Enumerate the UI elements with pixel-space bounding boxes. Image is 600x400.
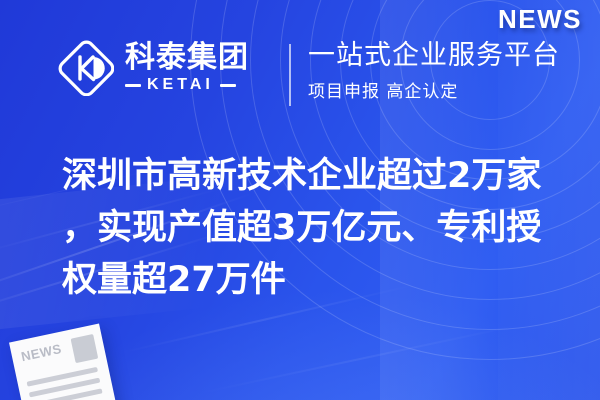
news-badge: NEWS [498, 4, 582, 35]
brand-name-cn: 科泰集团 [125, 42, 249, 74]
tagline-main: 一站式企业服务平台 [308, 40, 560, 72]
dash-right-icon [220, 84, 236, 87]
brand-logo-text: 科泰集团 KETAI [125, 42, 249, 95]
dash-left-icon [125, 84, 141, 87]
light-streak [200, 323, 523, 394]
brand-logo[interactable]: 科泰集团 KETAI [58, 40, 249, 96]
newspaper-illustration: NEWS [9, 323, 119, 400]
newspaper-image-placeholder [71, 334, 99, 363]
brand-name-en-row: KETAI [125, 76, 249, 94]
banner-header: NEWS 科泰集团 KETAI 一站式企业服务平台 项目申报 高企认定 [0, 0, 600, 128]
tagline-sub: 项目申报 高企认定 [308, 77, 560, 102]
news-banner: NEWS 科泰集团 KETAI 一站式企业服务平台 项目申报 高企认定 [0, 0, 600, 400]
ketai-diamond-k-logo-icon [58, 40, 114, 96]
header-divider [289, 44, 291, 106]
headline-line-2: ，实现产值超3万亿元、专利授 [62, 202, 562, 254]
headline-line-1: 深圳市高新技术企业超过2万家 [62, 150, 562, 202]
brand-name-en: KETAI [147, 76, 214, 94]
newspaper-title: NEWS [20, 341, 63, 364]
tagline-block: 一站式企业服务平台 项目申报 高企认定 [308, 40, 560, 102]
newspaper-text-lines [27, 366, 108, 400]
headline: 深圳市高新技术企业超过2万家 ，实现产值超3万亿元、专利授 权量超27万件 [62, 150, 562, 306]
headline-line-3: 权量超27万件 [62, 254, 562, 306]
